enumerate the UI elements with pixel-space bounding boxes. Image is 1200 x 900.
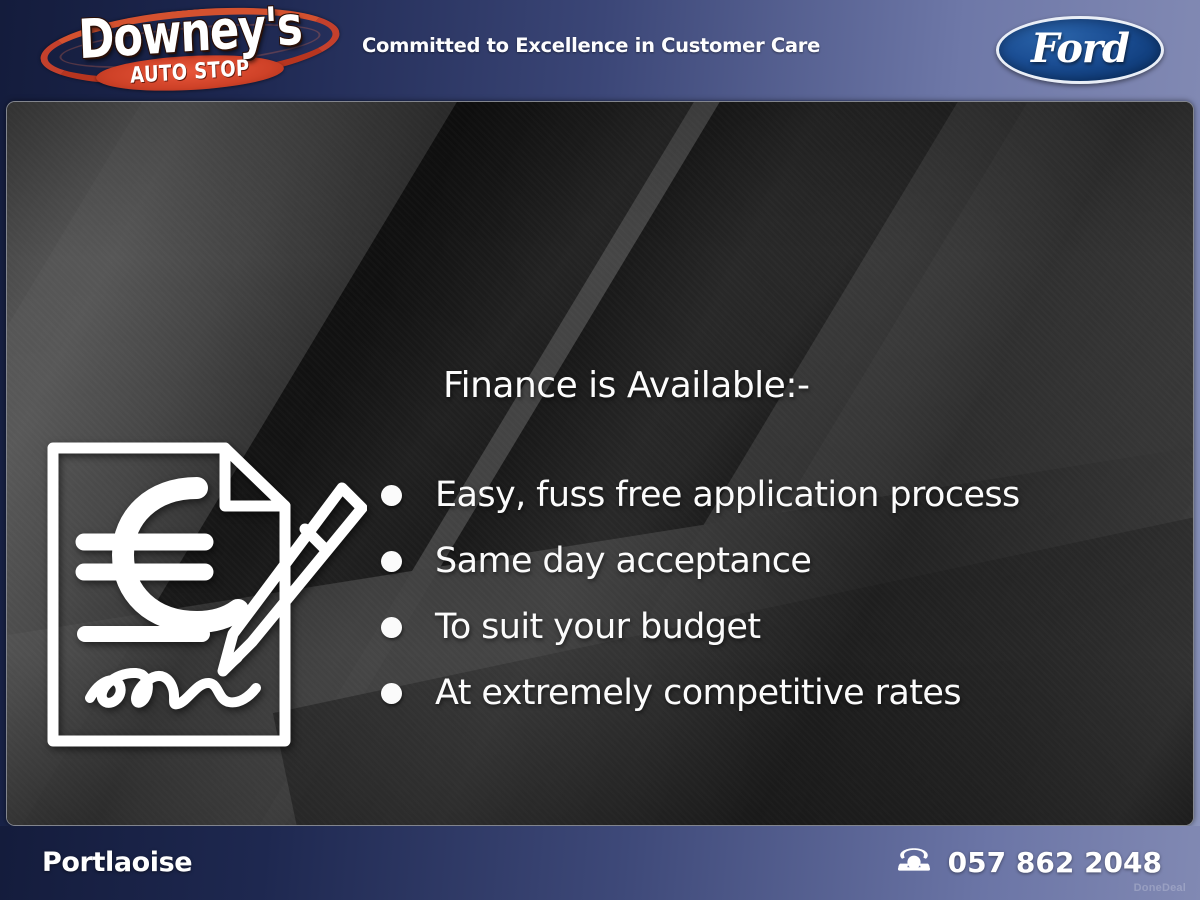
list-item: At extremely competitive rates [381,660,1141,726]
site-watermark: DoneDeal [1134,882,1186,894]
branch-location: Portlaoise [42,847,192,878]
list-item: Same day acceptance [381,528,1141,594]
page-title: Finance is Available:- [443,365,809,406]
bullet-dot-icon [381,485,402,506]
benefit-text: Same day acceptance [435,541,811,581]
list-item: To suit your budget [381,594,1141,660]
dealer-tagline: Committed to Excellence in Customer Care [362,34,820,57]
finance-advertisement: Downey's AUTO STOP Committed to Excellen… [0,0,1200,900]
benefit-text: At extremely competitive rates [435,673,961,713]
bullet-dot-icon [381,617,402,638]
main-panel: Finance is Available:- Easy, fuss free a… [6,101,1194,826]
bullet-dot-icon [381,683,402,704]
benefit-text: To suit your budget [435,607,760,647]
telephone-icon [896,846,932,879]
contact-phone[interactable]: 057 862 2048 [896,846,1162,879]
ford-brand-badge[interactable]: Ford [996,16,1164,84]
benefit-text: Easy, fuss free application process [435,475,1020,515]
header-bar: Downey's AUTO STOP Committed to Excellen… [0,0,1200,100]
logo-wordmark: Downey's [64,0,316,68]
footer-bar: Portlaoise 057 862 2048 DoneDeal [0,826,1200,900]
dealer-logo[interactable]: Downey's AUTO STOP [34,4,346,96]
ford-wordmark: Ford [996,16,1164,84]
bullet-dot-icon [381,551,402,572]
finance-document-euro-signature-icon [37,432,367,757]
phone-number: 057 862 2048 [948,846,1162,879]
list-item: Easy, fuss free application process [381,462,1141,528]
benefits-list: Easy, fuss free application process Same… [381,462,1141,726]
